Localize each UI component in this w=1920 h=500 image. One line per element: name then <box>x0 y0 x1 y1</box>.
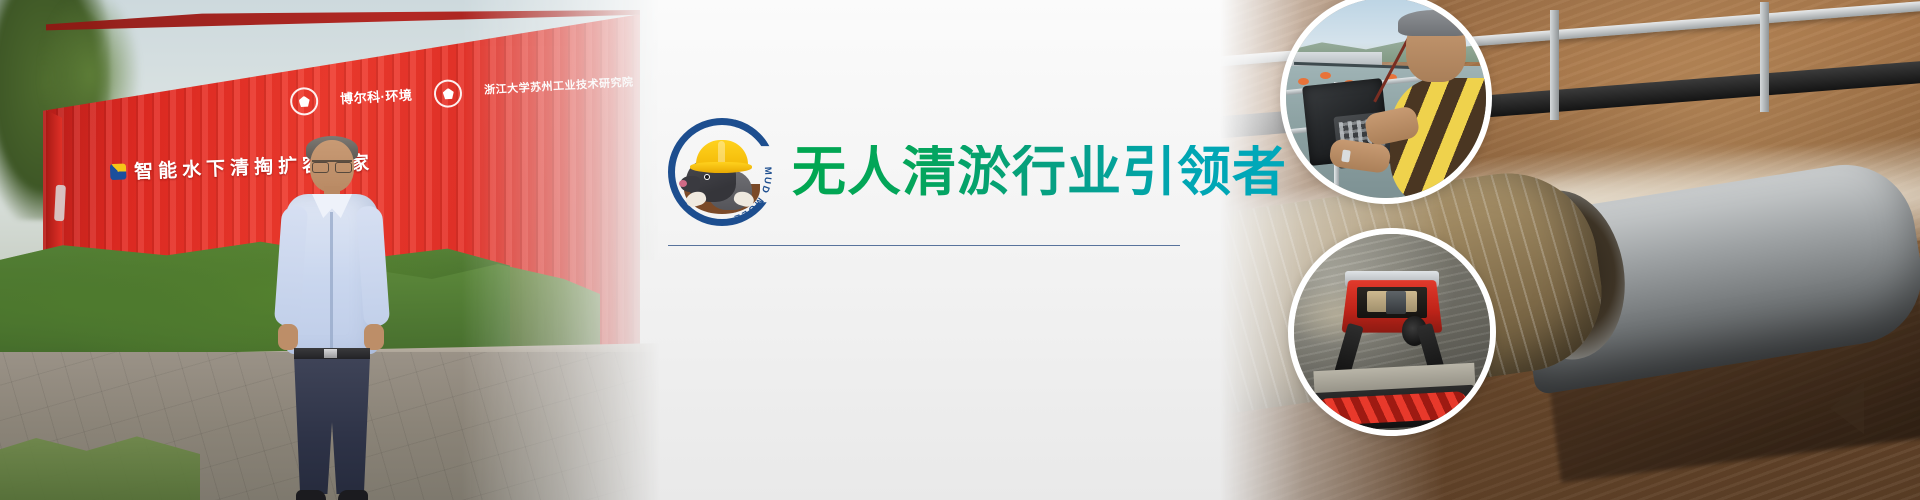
center-content: MUD MOLE 无人清淤行业引领者 <box>660 0 1280 500</box>
left-photo-container-engineer: 博尔科·环境 浙江大学苏州工业技术研究院 智能水下清掏扩容专家 <box>0 0 660 500</box>
hero-banner: 博尔科·环境 浙江大学苏州工业技术研究院 智能水下清掏扩容专家 <box>0 0 1920 500</box>
brand-row: MUD MOLE 无人清淤行业引领者 <box>668 118 1208 226</box>
pond-float-buoy <box>1298 78 1309 85</box>
brand-primary-label: 博尔科·环境 <box>340 89 413 107</box>
brand-secondary-mark-icon <box>434 79 463 108</box>
operator-cap <box>1398 10 1470 36</box>
engineer-left-hand <box>278 324 298 350</box>
container-door-handle <box>54 185 66 221</box>
engineer-belt-buckle <box>324 349 337 358</box>
engineer-left-shoe <box>296 490 326 500</box>
engineer-shirt-placket <box>330 212 333 352</box>
brand-primary-mark-icon <box>289 87 318 116</box>
robot-tank <box>1386 291 1406 315</box>
banner-headline: 无人清淤行业引领者 <box>792 145 1287 199</box>
mole-eye-icon <box>704 174 710 180</box>
engineer-right-hand <box>364 324 384 350</box>
glasses-icon <box>312 160 352 171</box>
engineer-figure <box>272 140 392 500</box>
brand-block: MUD MOLE 无人清淤行业引领者 <box>668 118 1208 226</box>
hard-hat-brim-icon <box>690 162 752 173</box>
operator-torso <box>1390 78 1492 204</box>
circle-photo-operator-console <box>1280 0 1492 204</box>
arrow-icon <box>1830 382 1864 434</box>
pond-float-buoy <box>1320 72 1331 79</box>
engineer-right-shoe <box>338 490 368 500</box>
headline-divider <box>668 245 1180 246</box>
handrail-post <box>1550 10 1559 120</box>
operator-wristwatch <box>1341 150 1351 163</box>
engineer-trousers <box>294 356 370 494</box>
mud-mole-logo: MUD MOLE <box>668 118 776 226</box>
mole-nose-icon <box>679 180 687 187</box>
slogan-badge-icon <box>110 163 127 180</box>
handrail-post <box>1760 2 1769 112</box>
circle-photo-dredging-robot <box>1288 228 1496 436</box>
